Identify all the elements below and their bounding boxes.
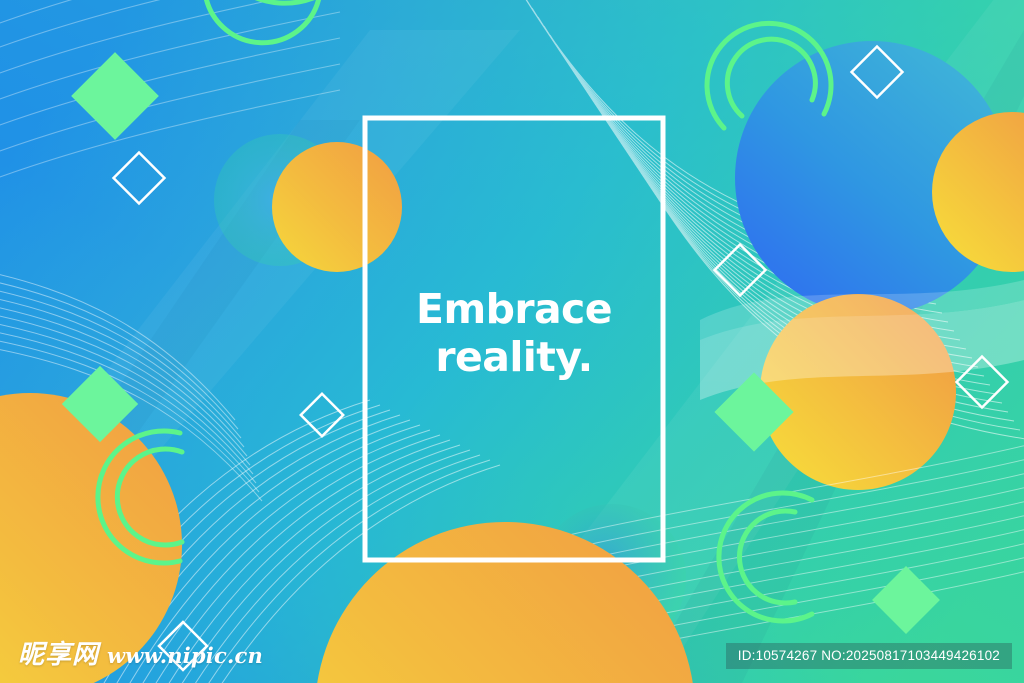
image-id-strip: ID:10574267 NO:20250817103449426102 bbox=[726, 643, 1012, 669]
artboard: Embrace reality. 昵享网 www.nipic.cn ID:105… bbox=[0, 0, 1024, 683]
watermark: 昵享网 www.nipic.cn bbox=[18, 634, 263, 671]
watermark-url: www.nipic.cn bbox=[107, 643, 263, 668]
watermark-brand: 昵享网 bbox=[18, 634, 99, 671]
background-artwork bbox=[0, 0, 1024, 683]
circle-orange-upper-left bbox=[272, 142, 402, 272]
